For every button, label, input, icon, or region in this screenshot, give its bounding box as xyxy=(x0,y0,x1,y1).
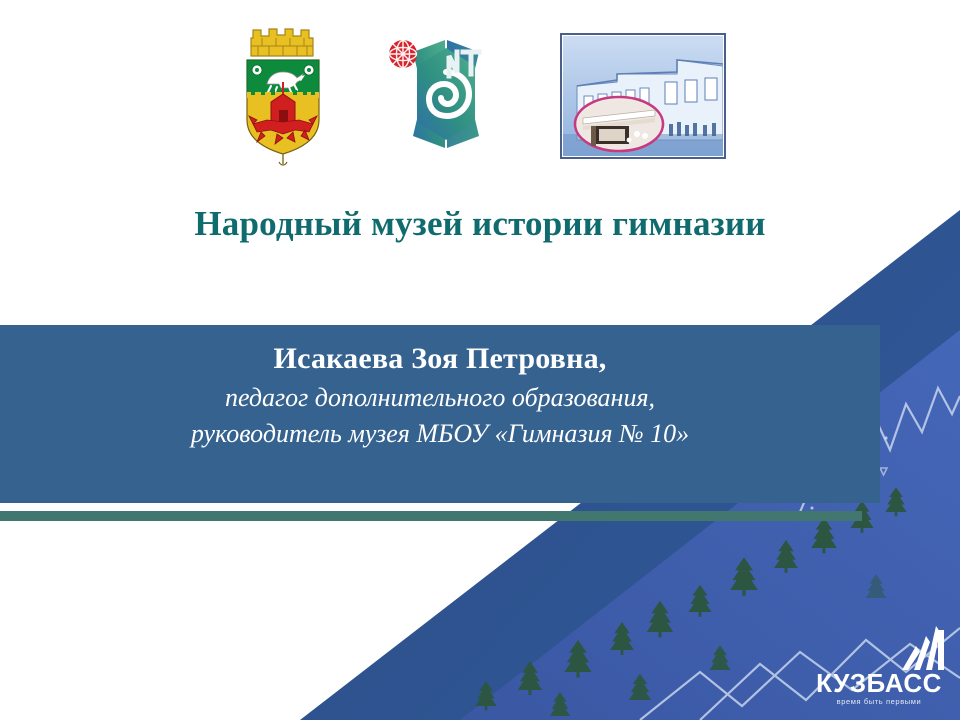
institute-emblem-logo xyxy=(383,32,509,156)
presentation-slide: Народный музей истории гимназии Исакаева… xyxy=(0,0,960,720)
author-name: Исакаева Зоя Петровна, xyxy=(0,339,880,380)
kuzbass-mark-icon xyxy=(902,626,944,670)
coat-of-arms-logo xyxy=(231,20,335,166)
kuzbass-wordmark: КУЗБАСС xyxy=(816,668,942,698)
photo-oval-inset xyxy=(575,97,663,151)
author-band: Исакаева Зоя Петровна, педагог дополните… xyxy=(0,325,880,503)
logo-row xyxy=(0,18,960,168)
crown-icon xyxy=(251,29,313,56)
teal-divider-rule xyxy=(0,511,862,521)
kuzbass-brand-logo: КУЗБАСС время быть первыми xyxy=(806,616,952,708)
author-role-line-1: педагог дополнительного образования, xyxy=(0,380,880,417)
red-circle-icon xyxy=(389,40,417,68)
author-role-line-2: руководитель музея МБОУ «Гимназия № 10» xyxy=(0,416,880,453)
gymnasium-photo-logo xyxy=(557,30,729,162)
page-title: Народный музей истории гимназии xyxy=(0,205,960,244)
kuzbass-tagline: время быть первыми xyxy=(837,697,922,706)
